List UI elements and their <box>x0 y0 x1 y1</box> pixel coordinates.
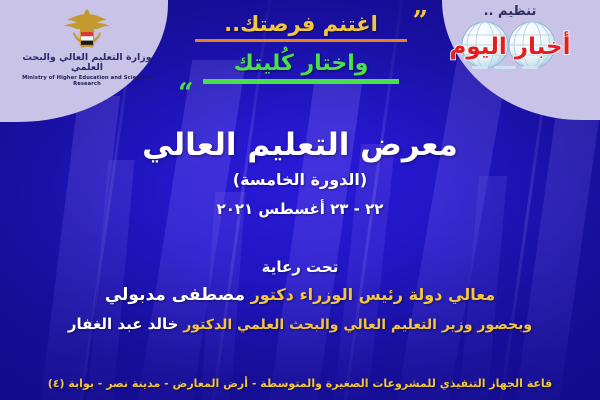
main-title-block: معرض التعليم العالي (الدورة الخامسة) ٢٢ … <box>0 128 600 218</box>
headline-line-2: واختار كُليتك <box>172 51 430 76</box>
event-dates: ٢٢ - ٢٣ أغسطس ٢٠٢١ <box>0 200 600 218</box>
headline-rule-green <box>203 79 399 84</box>
ministry-name-arabic: وزارة التعليم العالي والبحث العلمي <box>14 53 160 74</box>
prime-minister-name: مصطفى مدبولي <box>105 285 245 305</box>
ministry-logo: وزارة التعليم العالي والبحث العلمي Minis… <box>14 6 160 87</box>
event-poster: وزارة التعليم العالي والبحث العلمي Minis… <box>0 0 600 400</box>
headline-line-1: اغتنم فرصتك.. <box>172 12 430 36</box>
prime-minister-prefix: معالي دولة رئيس الوزراء دكتور <box>251 285 496 304</box>
headline-rule-gold <box>195 39 407 42</box>
akhbar-el-yom-logo: أخبار اليوم <box>444 20 576 72</box>
venue-line: قاعة الجهاز التنفيذي للمشروعات الصغيرة و… <box>0 377 600 390</box>
prime-minister-line: معالي دولة رئيس الوزراء دكتور مصطفى مدبو… <box>0 285 600 306</box>
organizer-label: تنظيم .. <box>426 4 594 19</box>
patronage-label: تحت رعاية <box>0 258 600 276</box>
headline-block: ” اغتنم فرصتك.. واختار كُليتك “ <box>172 12 430 84</box>
minister-prefix: وبحضور وزير التعليم العالي والبحث العلمي… <box>183 317 532 333</box>
minister-name: خالد عبد الغفار <box>68 315 179 333</box>
svg-text:أخبار اليوم: أخبار اليوم <box>450 30 571 60</box>
eagle-of-saladin-emblem <box>61 6 113 52</box>
minister-line: وبحضور وزير التعليم العالي والبحث العلمي… <box>0 315 600 333</box>
event-title: معرض التعليم العالي <box>0 128 600 164</box>
patronage-block: تحت رعاية معالي دولة رئيس الوزراء دكتور … <box>0 258 600 333</box>
event-edition: (الدورة الخامسة) <box>0 170 600 189</box>
ministry-name-english: Ministry of Higher Education and Scienti… <box>14 75 160 87</box>
organizer-block: تنظيم .. أخبار اليوم <box>426 4 594 72</box>
opening-quote-mark: “ <box>178 80 194 107</box>
